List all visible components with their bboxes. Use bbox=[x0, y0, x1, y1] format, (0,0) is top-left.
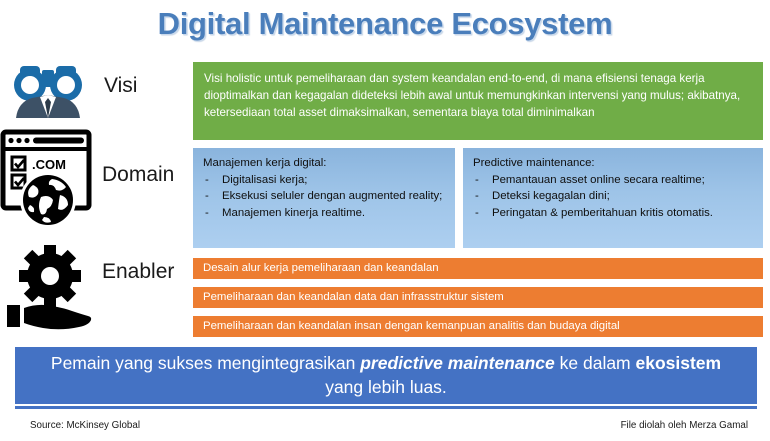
list-item: -Deteksi kegagalan dini; bbox=[473, 188, 754, 204]
list-item: -Peringatan & pemberitahuan kritis otoma… bbox=[473, 205, 754, 221]
browser-globe-domain-icon: .COM .NET bbox=[0, 127, 96, 229]
domain-panel-predictive-maintenance: Predictive maintenance: -Pemantauan asse… bbox=[463, 148, 763, 248]
binoculars-person-icon bbox=[6, 60, 90, 118]
domain-com-text: .COM bbox=[32, 157, 66, 172]
rail-item-enabler: Enabler bbox=[4, 243, 174, 331]
bullet-dash: - bbox=[475, 205, 479, 221]
rail-label-domain: Domain bbox=[102, 163, 174, 187]
footer-divider bbox=[15, 406, 757, 409]
footer-source: Source: McKinsey Global bbox=[30, 420, 140, 431]
list-item-text: Digitalisasi kerja; bbox=[222, 174, 307, 186]
bullet-dash: - bbox=[205, 172, 209, 188]
list-item-text: Peringatan & pemberitahuan kritis otomat… bbox=[492, 207, 713, 219]
domain-heading: Manajemen kerja digital: bbox=[203, 155, 446, 171]
bullet-dash: - bbox=[205, 188, 209, 204]
enabler-bar: Pemeliharaan dan keandalan insan dengan … bbox=[193, 316, 763, 337]
footer-credit: File diolah oleh Merza Gamal bbox=[621, 420, 748, 431]
gear-hand-icon bbox=[4, 243, 96, 331]
list-item: -Digitalisasi kerja; bbox=[203, 172, 446, 188]
rail-item-domain: .COM .NET Domain bbox=[0, 127, 174, 229]
list-item-text: Pemantauan asset online secara realtime; bbox=[492, 174, 705, 186]
summary-banner-text: Pemain yang sukses mengintegrasikan pred… bbox=[45, 352, 727, 399]
enabler-bar: Pemeliharaan dan keandalan data dan infr… bbox=[193, 287, 763, 308]
list-item-text: Deteksi kegagalan dini; bbox=[492, 190, 610, 202]
summary-banner: Pemain yang sukses mengintegrasikan pred… bbox=[15, 347, 757, 404]
bullet-dash: - bbox=[475, 188, 479, 204]
enabler-bar-text: Desain alur kerja pemeliharaan dan keand… bbox=[203, 262, 439, 274]
banner-part-1: Pemain yang sukses mengintegrasikan bbox=[51, 353, 360, 373]
rail-item-visi: Visi bbox=[6, 60, 137, 118]
domain-bullet-list: -Digitalisasi kerja; -Eksekusi seluler d… bbox=[203, 172, 446, 221]
domain-panel-work-management: Manajemen kerja digital: -Digitalisasi k… bbox=[193, 148, 455, 248]
domain-bullet-list: -Pemantauan asset online secara realtime… bbox=[473, 172, 754, 221]
banner-part-3: yang lebih luas. bbox=[325, 377, 447, 397]
banner-emphasis-ekosistem: ekosistem bbox=[636, 353, 722, 373]
enabler-bar-text: Pemeliharaan dan keandalan insan dengan … bbox=[203, 320, 620, 332]
vision-text: Visi holistic untuk pemeliharaan dan sys… bbox=[204, 72, 740, 119]
domain-heading: Predictive maintenance: bbox=[473, 155, 754, 171]
banner-part-2: ke dalam bbox=[555, 353, 636, 373]
rail-label-enabler: Enabler bbox=[102, 260, 174, 284]
vision-panel: Visi holistic untuk pemeliharaan dan sys… bbox=[193, 62, 763, 140]
enabler-bar: Desain alur kerja pemeliharaan dan keand… bbox=[193, 258, 763, 279]
list-item-text: Manajemen kinerja realtime. bbox=[222, 207, 365, 219]
banner-emphasis-predictive-maintenance: predictive maintenance bbox=[360, 353, 555, 373]
list-item: -Manajemen kinerja realtime. bbox=[203, 205, 446, 221]
rail-label-visi: Visi bbox=[104, 74, 137, 98]
list-item: -Pemantauan asset online secara realtime… bbox=[473, 172, 754, 188]
list-item-text: Eksekusi seluler dengan augmented realit… bbox=[222, 190, 442, 202]
enabler-bar-text: Pemeliharaan dan keandalan data dan infr… bbox=[203, 291, 504, 303]
bullet-dash: - bbox=[205, 205, 209, 221]
bullet-dash: - bbox=[475, 172, 479, 188]
list-item: -Eksekusi seluler dengan augmented reali… bbox=[203, 188, 446, 204]
